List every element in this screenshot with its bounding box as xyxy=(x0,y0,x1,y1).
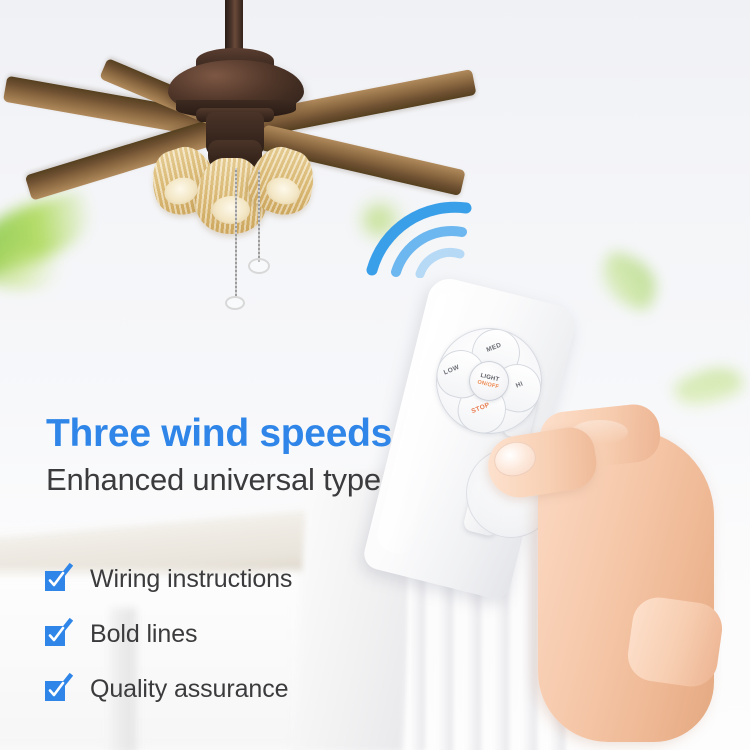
list-item: Quality assurance xyxy=(44,662,444,717)
fan-pull-chain xyxy=(235,168,237,298)
list-item-label: Bold lines xyxy=(90,620,197,649)
list-item-label: Wiring instructions xyxy=(90,565,292,594)
fan-pull-chain-finial xyxy=(225,296,245,310)
lower-finger xyxy=(625,594,726,690)
product-banner: MED HI STOP LOW LIGHT ON/OFF Three wind … xyxy=(0,0,750,750)
hand xyxy=(480,390,748,750)
list-item-label: Quality assurance xyxy=(90,675,288,704)
checkbox-checked-icon xyxy=(44,568,68,592)
fan-pull-chain-finial xyxy=(248,258,270,274)
list-item: Bold lines xyxy=(44,607,444,662)
checkbox-checked-icon xyxy=(44,623,68,647)
feature-list: Wiring instructions Bold lines Quali xyxy=(44,552,444,717)
list-item: Wiring instructions xyxy=(44,552,444,607)
fan-pull-chain xyxy=(258,170,260,262)
wifi-signal-icon xyxy=(362,196,486,278)
page-title: Three wind speeds xyxy=(46,414,392,453)
page-subtitle: Enhanced universal type xyxy=(46,464,381,495)
checkbox-checked-icon xyxy=(44,678,68,702)
fan-light-bulb-opening xyxy=(212,196,250,224)
